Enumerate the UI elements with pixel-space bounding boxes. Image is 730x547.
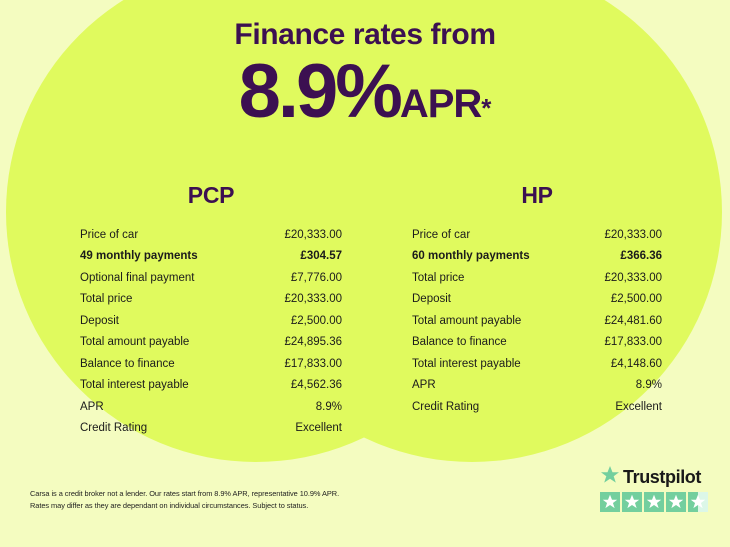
table-row: Total amount payable £24,895.36: [80, 332, 342, 354]
row-label: Deposit: [412, 289, 580, 311]
table-row: Optional final payment £7,776.00: [80, 267, 342, 289]
table-row: Total price £20,333.00: [412, 267, 662, 289]
rating-star-filled: [622, 492, 642, 512]
row-label: Total amount payable: [412, 310, 580, 332]
row-value: £20,333.00: [580, 267, 662, 289]
row-label: Credit Rating: [80, 418, 256, 440]
table-row: APR 8.9%: [412, 375, 662, 397]
row-label: Deposit: [80, 310, 256, 332]
row-value: £2,500.00: [580, 289, 662, 311]
row-label: 60 monthly payments: [412, 246, 580, 268]
row-label: Balance to finance: [80, 353, 256, 375]
table-row: Credit Rating Excellent: [412, 396, 662, 418]
row-label: Total price: [412, 267, 580, 289]
row-value: £24,895.36: [256, 332, 342, 354]
plan-column-pcp: PCP Price of car £20,333.00 49 monthly p…: [80, 182, 342, 439]
row-value: £20,333.00: [580, 224, 662, 246]
plan-column-hp: HP Price of car £20,333.00 60 monthly pa…: [412, 182, 662, 418]
rate-value: 8.9%: [239, 49, 400, 134]
row-value: 8.9%: [580, 375, 662, 397]
table-row: Price of car £20,333.00: [80, 224, 342, 246]
row-label: Total interest payable: [80, 375, 256, 397]
table-row: 49 monthly payments £304.57: [80, 246, 342, 268]
disclaimer-text: Carsa is a credit broker not a lender. O…: [30, 488, 460, 511]
page-title: Finance rates from: [0, 18, 730, 52]
table-row: Total price £20,333.00: [80, 289, 342, 311]
row-value: 8.9%: [256, 396, 342, 418]
table-row: Deposit £2,500.00: [80, 310, 342, 332]
table-row: Balance to finance £17,833.00: [412, 332, 662, 354]
plan-table-pcp: Price of car £20,333.00 49 monthly payme…: [80, 224, 342, 439]
table-row: Total interest payable £4,148.60: [412, 353, 662, 375]
trustpilot-star-icon: [600, 465, 620, 490]
row-value: £4,148.60: [580, 353, 662, 375]
rating-star-filled: [666, 492, 686, 512]
plan-table-hp: Price of car £20,333.00 60 monthly payme…: [412, 224, 662, 418]
banner-content: Finance rates from 8.9%APR* PCP Price of…: [0, 0, 730, 547]
trustpilot-badge: Trustpilot: [600, 466, 720, 512]
row-value: Excellent: [580, 396, 662, 418]
row-label: Optional final payment: [80, 267, 256, 289]
row-value: £17,833.00: [580, 332, 662, 354]
row-label: APR: [80, 396, 256, 418]
table-row: 60 monthly payments £366.36: [412, 246, 662, 268]
row-label: Total interest payable: [412, 353, 580, 375]
row-value: £20,333.00: [256, 224, 342, 246]
table-row: Credit Rating Excellent: [80, 418, 342, 440]
rating-star-half: [688, 492, 708, 512]
row-value: £2,500.00: [256, 310, 342, 332]
plan-title-hp: HP: [412, 182, 662, 209]
row-label: Balance to finance: [412, 332, 580, 354]
row-label: APR: [412, 375, 580, 397]
row-label: Total price: [80, 289, 256, 311]
table-row: Total interest payable £4,562.36: [80, 375, 342, 397]
row-label: Total amount payable: [80, 332, 256, 354]
headline-block: Finance rates from 8.9%APR*: [0, 18, 730, 130]
promo-banner: Finance rates from 8.9%APR* PCP Price of…: [0, 0, 730, 547]
trustpilot-name: Trustpilot: [623, 467, 701, 488]
row-value: £17,833.00: [256, 353, 342, 375]
rate-asterisk: *: [481, 93, 491, 123]
row-value: £7,776.00: [256, 267, 342, 289]
row-value: Excellent: [256, 418, 342, 440]
trustpilot-wordmark: Trustpilot: [600, 466, 720, 488]
row-value: £366.36: [580, 246, 662, 268]
row-value: £24,481.60: [580, 310, 662, 332]
row-value: £4,562.36: [256, 375, 342, 397]
table-row: Deposit £2,500.00: [412, 289, 662, 311]
row-label: Price of car: [80, 224, 256, 246]
rating-star-filled: [600, 492, 620, 512]
table-row: Total amount payable £24,481.60: [412, 310, 662, 332]
row-label: 49 monthly payments: [80, 246, 256, 268]
table-row: Balance to finance £17,833.00: [80, 353, 342, 375]
row-label: Price of car: [412, 224, 580, 246]
row-value: £20,333.00: [256, 289, 342, 311]
table-row: Price of car £20,333.00: [412, 224, 662, 246]
rating-star-filled: [644, 492, 664, 512]
row-label: Credit Rating: [412, 396, 580, 418]
table-row: APR 8.9%: [80, 396, 342, 418]
trustpilot-rating-stars: [600, 492, 720, 512]
disclaimer-line-2: Rates may differ as they are dependant o…: [30, 500, 460, 512]
plan-title-pcp: PCP: [80, 182, 342, 209]
rate-line: 8.9%APR*: [0, 54, 730, 130]
row-value: £304.57: [256, 246, 342, 268]
disclaimer-line-1: Carsa is a credit broker not a lender. O…: [30, 488, 460, 500]
rate-suffix: APR: [400, 82, 481, 126]
